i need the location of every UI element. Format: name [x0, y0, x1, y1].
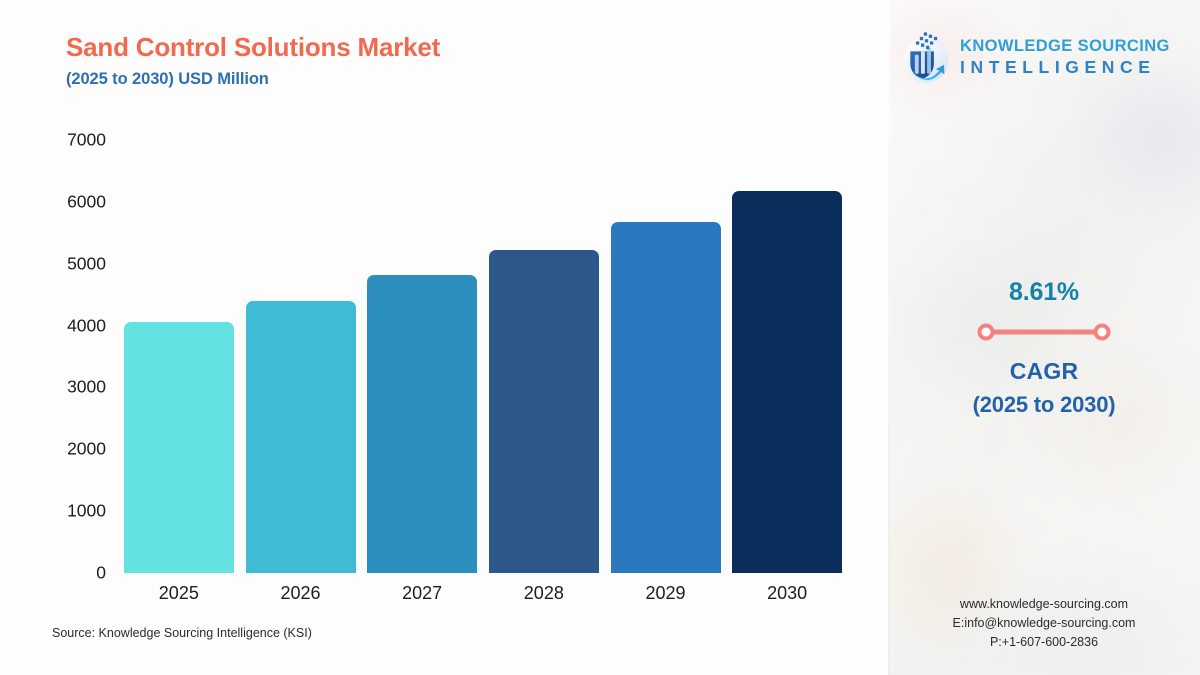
bar-group: 2025 [124, 140, 234, 573]
y-axis-tick-label: 6000 [38, 191, 106, 212]
bar[interactable] [489, 250, 599, 573]
y-axis-tick-label: 1000 [38, 501, 106, 522]
cagr-label: CAGR [888, 358, 1200, 385]
bar-group: 2028 [489, 140, 599, 573]
brand-logo-line2: INTELLIGENCE [960, 59, 1170, 77]
brand-logo-line1: KNOWLEDGE SOURCING [960, 38, 1170, 55]
chart-panel: Sand Control Solutions Market (2025 to 2… [0, 0, 888, 675]
y-axis-tick-label: 3000 [38, 377, 106, 398]
bar-series: 202520262027202820292030 [118, 140, 848, 573]
bar-group: 2027 [367, 140, 477, 573]
contact-block: www.knowledge-sourcing.com E:info@knowle… [888, 595, 1200, 652]
bar-group: 2030 [732, 140, 842, 573]
bar-chart-plot: 70006000500040003000200010000 2025202620… [0, 0, 888, 675]
brand-panel: KNOWLEDGE SOURCING INTELLIGENCE 8.61% CA… [888, 0, 1200, 675]
x-axis-tick-label: 2030 [732, 583, 842, 604]
bar[interactable] [367, 275, 477, 573]
source-note: Source: Knowledge Sourcing Intelligence … [52, 626, 312, 640]
contact-email[interactable]: E:info@knowledge-sourcing.com [888, 614, 1200, 633]
cagr-period: (2025 to 2030) [888, 392, 1200, 418]
knowledge-sourcing-logo-icon [898, 29, 954, 85]
bar-group: 2029 [611, 140, 721, 573]
cagr-value: 8.61% [888, 278, 1200, 307]
x-axis-tick-label: 2028 [489, 583, 599, 604]
y-axis-tick-label: 4000 [38, 315, 106, 336]
x-axis-tick-label: 2027 [367, 583, 477, 604]
bar[interactable] [124, 322, 234, 573]
contact-website[interactable]: www.knowledge-sourcing.com [888, 595, 1200, 614]
bar[interactable] [611, 222, 721, 573]
y-axis-tick-label: 0 [38, 563, 106, 584]
brand-logo-text: KNOWLEDGE SOURCING INTELLIGENCE [960, 38, 1170, 76]
bar[interactable] [732, 191, 842, 573]
bar[interactable] [246, 301, 356, 573]
x-axis-tick-label: 2026 [246, 583, 356, 604]
contact-phone: P:+1-607-600-2836 [888, 633, 1200, 652]
brand-logo[interactable]: KNOWLEDGE SOURCING INTELLIGENCE [898, 28, 1198, 86]
y-axis-tick-label: 2000 [38, 439, 106, 460]
cagr-block: 8.61% CAGR (2025 to 2030) [888, 278, 1200, 418]
x-axis-tick-label: 2029 [611, 583, 721, 604]
y-axis-tick-label: 7000 [38, 130, 106, 151]
y-axis-tick-label: 5000 [38, 253, 106, 274]
bar-group: 2026 [246, 140, 356, 573]
x-axis-tick-label: 2025 [124, 583, 234, 604]
cagr-connector-icon [974, 323, 1114, 341]
infographic-slide: Sand Control Solutions Market (2025 to 2… [0, 0, 1200, 675]
